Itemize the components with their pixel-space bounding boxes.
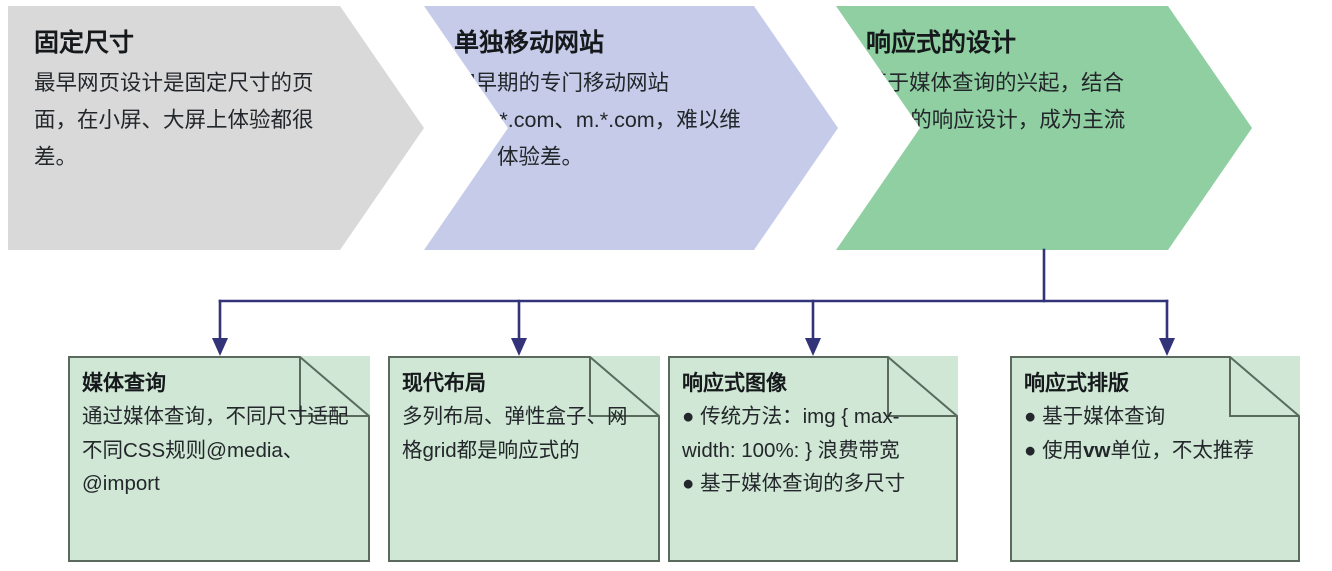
- note-content: 响应式排版 ● 基于媒体查询 ● 使用vw单位，不太推荐: [1010, 356, 1300, 562]
- chevron-body: 基于媒体查询的兴起，结合CSS的响应设计，成为主流: [866, 65, 1160, 139]
- note-content: 现代布局 多列布局、弹性盒子、网格grid都是响应式的: [388, 356, 660, 562]
- arrowhead-icon: [1159, 338, 1175, 356]
- stage-chevron-responsive-design[interactable]: 响应式的设计 基于媒体查询的兴起，结合CSS的响应设计，成为主流: [836, 6, 1252, 250]
- note-body: ● 基于媒体查询 ● 使用vw单位，不太推荐: [1024, 400, 1287, 466]
- note-card-media-query[interactable]: 媒体查询 通过媒体查询，不同尺寸适配不同CSS规则@media、@import: [68, 356, 370, 562]
- diagram-canvas: 固定尺寸 最早网页设计是固定尺寸的页面，在小屏、大屏上体验都很差。 单独移动网站…: [0, 0, 1332, 571]
- note-title: 响应式排版: [1024, 370, 1287, 397]
- note-title: 响应式图像: [682, 370, 945, 397]
- note-content: 媒体查询 通过媒体查询，不同尺寸适配不同CSS规则@media、@import: [68, 356, 370, 562]
- chevron-content: 单独移动网站 如早期的专门移动网站wap.*.com、m.*.com，难以维护，…: [424, 6, 838, 250]
- note-body: 通过媒体查询，不同尺寸适配不同CSS规则@media、@import: [82, 400, 357, 500]
- chevron-title: 固定尺寸: [34, 28, 328, 59]
- arrowhead-icon: [511, 338, 527, 356]
- connector-arrowheads: [212, 338, 1175, 356]
- chevron-body: 如早期的专门移动网站wap.*.com、m.*.com，难以维护，体验差。: [454, 65, 746, 176]
- chevron-content: 固定尺寸 最早网页设计是固定尺寸的页面，在小屏、大屏上体验都很差。: [8, 6, 424, 250]
- stage-chevron-separate-mobile-site[interactable]: 单独移动网站 如早期的专门移动网站wap.*.com、m.*.com，难以维护，…: [424, 6, 838, 250]
- chevron-title: 响应式的设计: [866, 28, 1160, 59]
- arrowhead-icon: [805, 338, 821, 356]
- note-card-responsive-images[interactable]: 响应式图像 ● 传统方法：img { max-width: 100%: } 浪费…: [668, 356, 958, 562]
- note-content: 响应式图像 ● 传统方法：img { max-width: 100%: } 浪费…: [668, 356, 958, 562]
- chevron-body: 最早网页设计是固定尺寸的页面，在小屏、大屏上体验都很差。: [34, 65, 328, 176]
- note-body: ● 传统方法：img { max-width: 100%: } 浪费带宽 ● 基…: [682, 400, 945, 500]
- arrowhead-icon: [212, 338, 228, 356]
- note-card-responsive-typography[interactable]: 响应式排版 ● 基于媒体查询 ● 使用vw单位，不太推荐: [1010, 356, 1300, 562]
- note-card-modern-layout[interactable]: 现代布局 多列布局、弹性盒子、网格grid都是响应式的: [388, 356, 660, 562]
- chevron-content: 响应式的设计 基于媒体查询的兴起，结合CSS的响应设计，成为主流: [836, 6, 1252, 250]
- stage-chevron-fixed-size[interactable]: 固定尺寸 最早网页设计是固定尺寸的页面，在小屏、大屏上体验都很差。: [8, 6, 424, 250]
- note-title: 媒体查询: [82, 370, 357, 397]
- chevron-title: 单独移动网站: [454, 28, 746, 59]
- note-body: 多列布局、弹性盒子、网格grid都是响应式的: [402, 400, 647, 466]
- note-title: 现代布局: [402, 370, 647, 397]
